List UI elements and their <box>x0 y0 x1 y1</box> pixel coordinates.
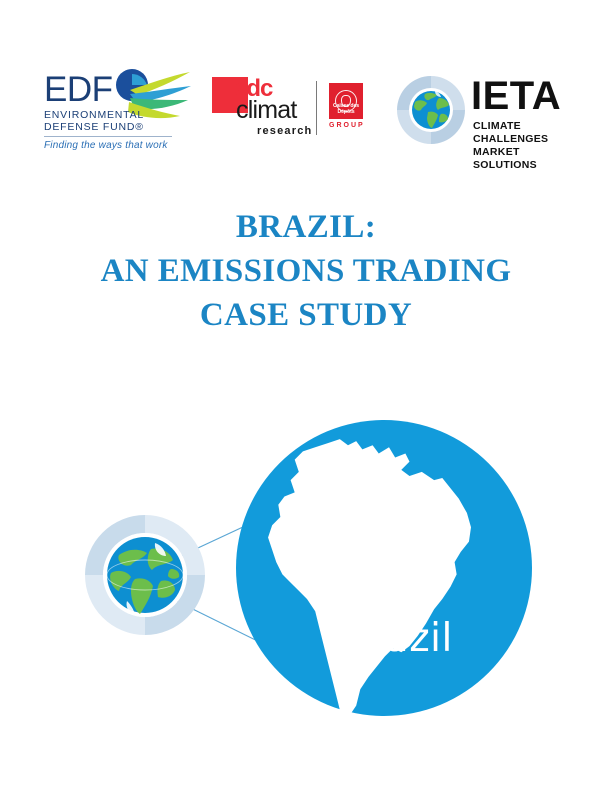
brazil-map-label: Brazil <box>341 619 453 658</box>
cdc-climat-wordmark: climat <box>236 98 296 123</box>
cdc-climat-logo: cdc climat research Caisse des Dépôts GR… <box>212 71 377 151</box>
title-line-3: CASE STUDY <box>0 293 612 337</box>
edf-logo: EDF ENVIRONMENTAL DEFENSE FUND® Finding … <box>42 66 190 156</box>
title-line-1: BRAZIL: <box>0 205 612 249</box>
brazil-locator-graphic <box>0 400 612 740</box>
cdc-vertical-divider <box>316 81 317 135</box>
edf-tagline: Finding the ways that work <box>44 140 168 151</box>
locator-illustration-svg <box>0 400 612 740</box>
cover-page: EDF ENVIRONMENTAL DEFENSE FUND® Finding … <box>0 0 612 792</box>
ieta-tagline: CLIMATE CHALLENGES MARKET SOLUTIONS <box>473 120 570 172</box>
partner-logo-bar: EDF ENVIRONMENTAL DEFENSE FUND® Finding … <box>0 62 612 160</box>
edf-wordmark: EDF <box>44 72 113 107</box>
caisse-des-depots-name: Caisse des Dépôts <box>329 104 363 115</box>
edf-subtitle: ENVIRONMENTAL DEFENSE FUND® <box>44 110 144 133</box>
ieta-globe-icon <box>395 74 467 146</box>
page-title: BRAZIL: AN EMISSIONS TRADING CASE STUDY <box>0 205 612 337</box>
ieta-logo: IETA CLIMATE CHALLENGES MARKET SOLUTIONS <box>395 70 570 152</box>
ieta-wordmark: IETA <box>471 76 561 116</box>
title-line-2: AN EMISSIONS TRADING <box>0 249 612 293</box>
caisse-des-depots-group-label: GROUP <box>329 122 363 129</box>
cdc-research-label: research <box>257 125 312 137</box>
edf-divider <box>44 136 172 137</box>
